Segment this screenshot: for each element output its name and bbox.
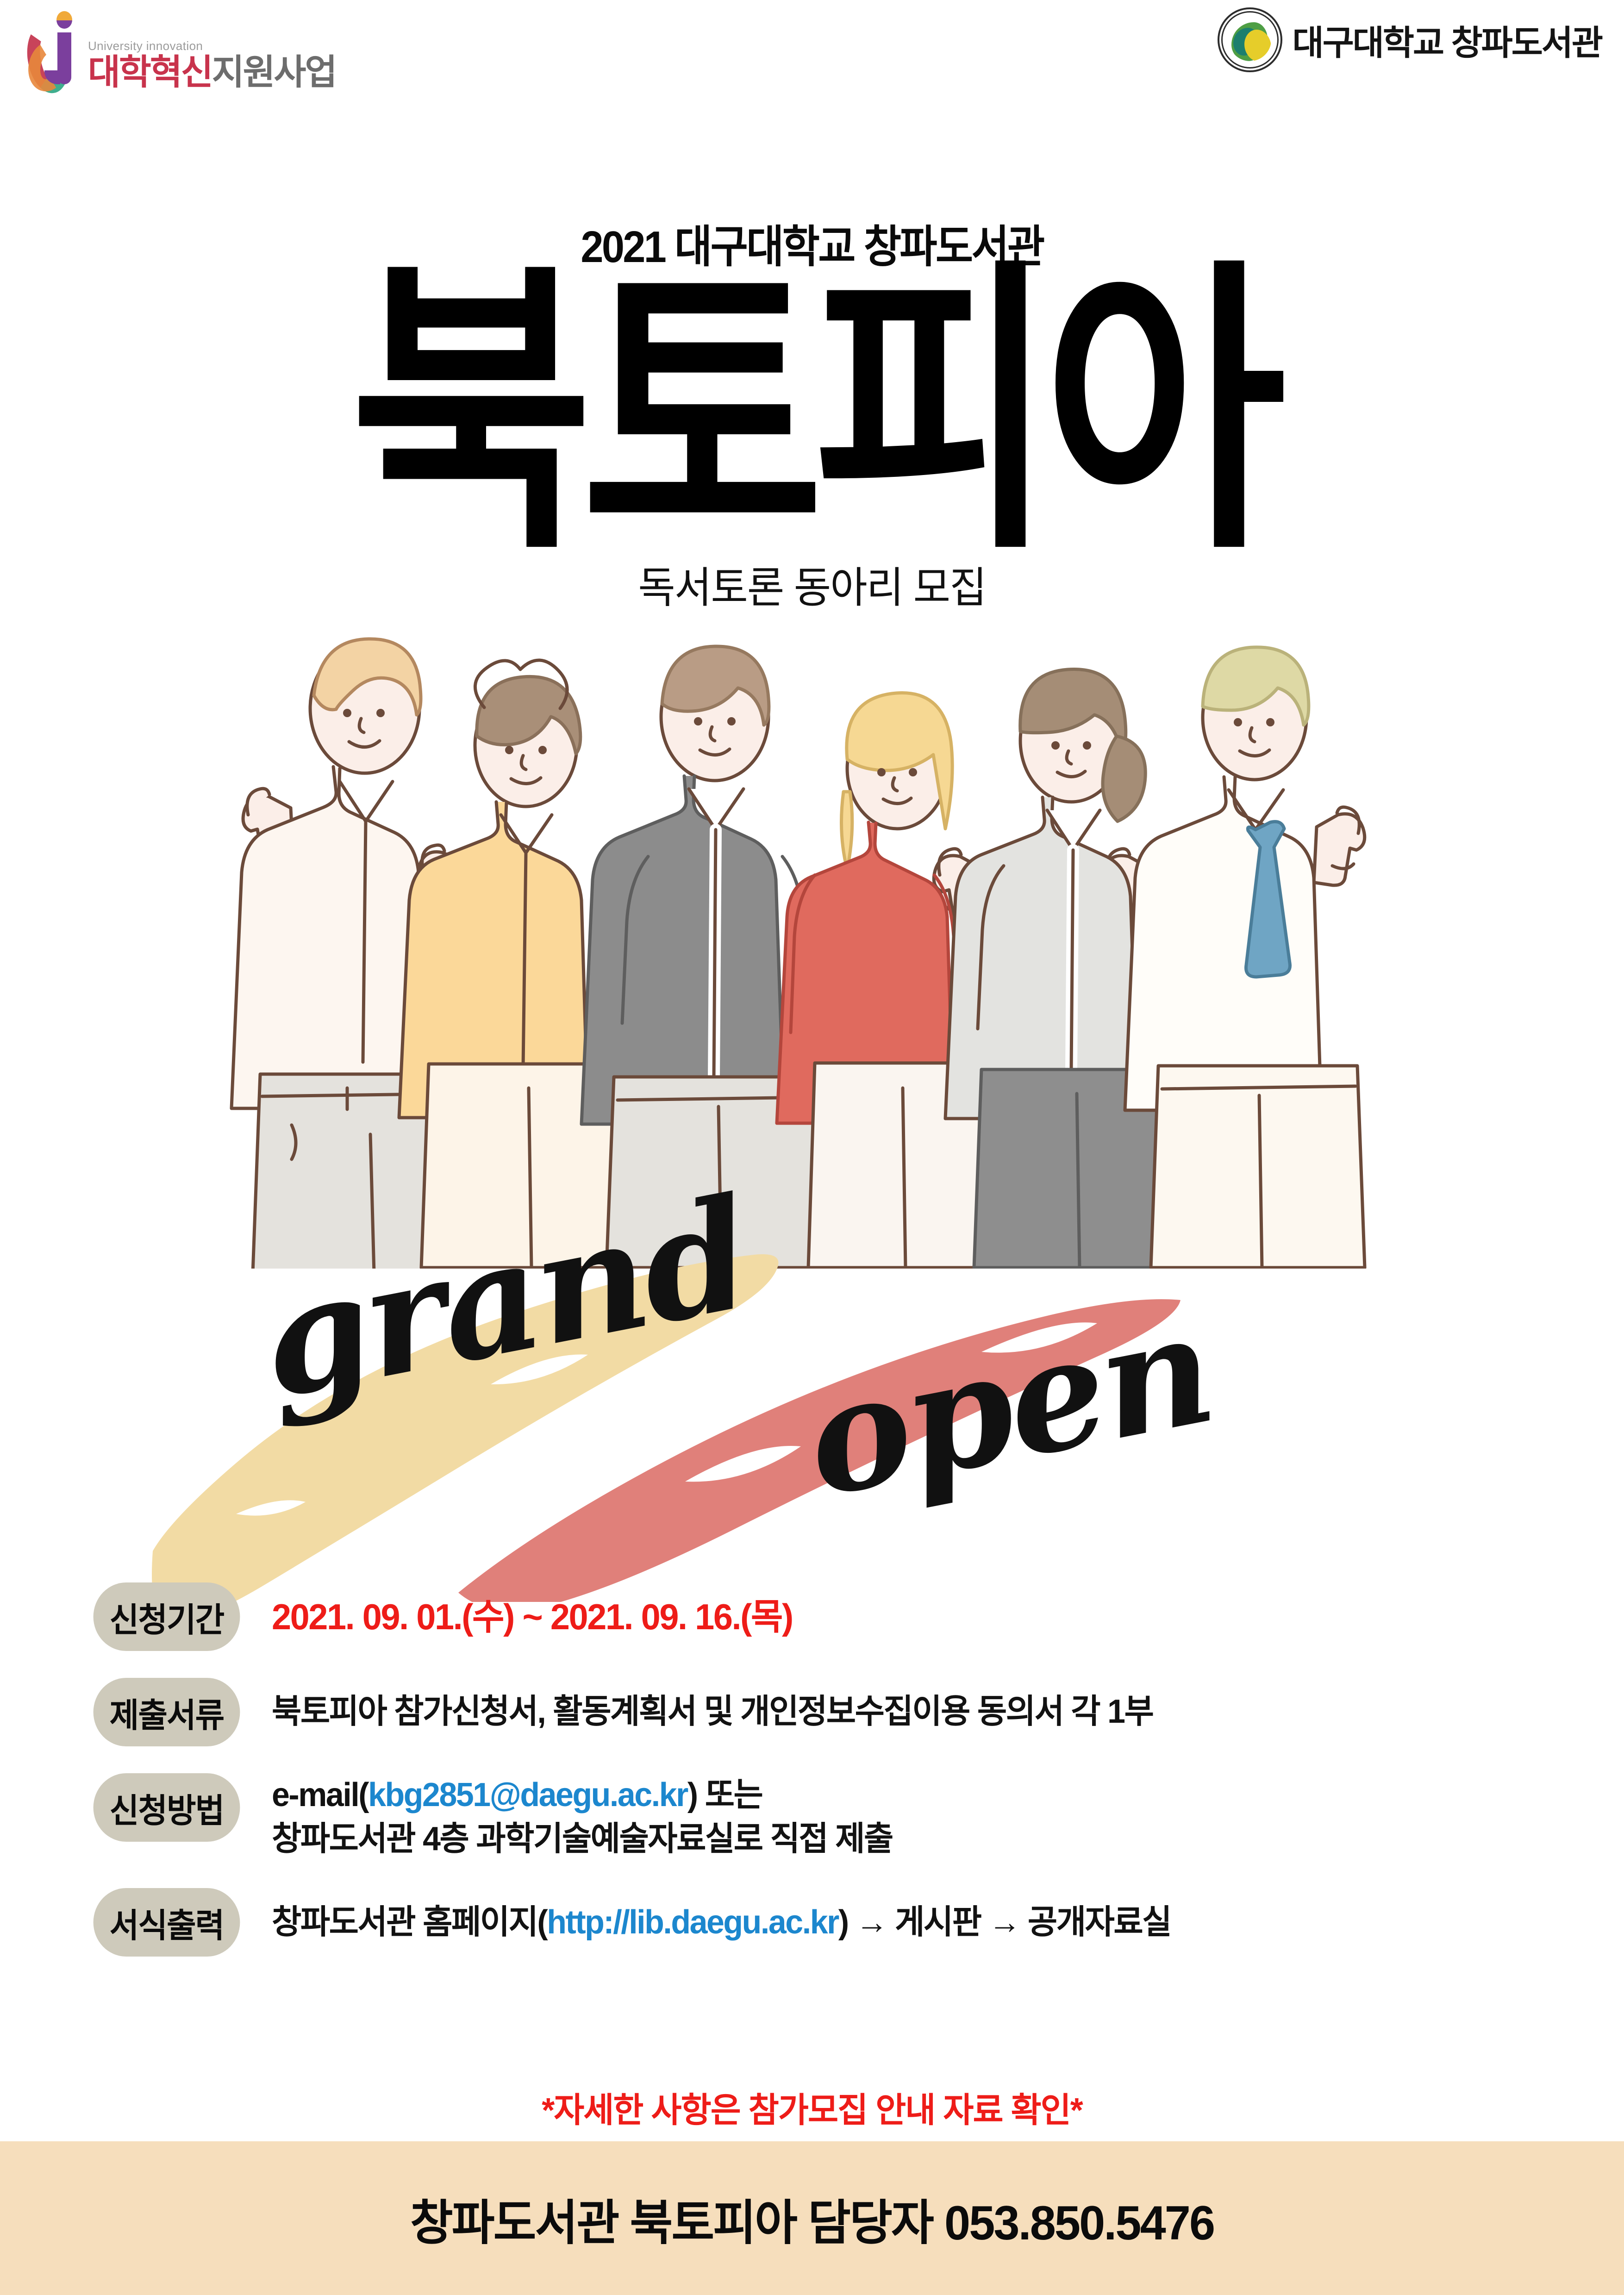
info-value-form-download: 창파도서관 홈페이지(http://lib.daegu.ac.kr) → 게시판… [243, 1888, 1562, 1957]
logo-kr-red: 대학혁신 [88, 53, 212, 92]
info-row-application-period: 신청기간 2021. 09. 01.(수) ~ 2021. 09. 16.(목) [90, 1582, 1562, 1651]
daegu-library-logo: 대구대학교 창파도서관 [1218, 7, 1602, 72]
info-label-application-period: 신청기간 [94, 1582, 240, 1651]
footnote: *자세한 사항은 참가모집 안내 자료 확인* [25, 2082, 1600, 2132]
university-innovation-logo: University innovation 대학혁신지원사업 [28, 8, 336, 94]
university-innovation-wordmark: University innovation 대학혁신지원사업 [88, 39, 336, 94]
logo-kr-gray: 지원사업 [212, 53, 336, 92]
info-row-required-documents: 제출서류 북토피아 참가신청서, 활동계획서 및 개인정보수집이용 동의서 각 … [90, 1678, 1562, 1746]
homepage-link[interactable]: http://lib.daegu.ac.kr [547, 1904, 838, 1941]
info-label-form-download: 서식출력 [94, 1888, 240, 1957]
poster-canvas: University innovation 대학혁신지원사업 대구대학교 창파도… [0, 0, 1624, 2295]
info-value-application-method: e-mail(kbg2851@daegu.ac.kr) 또는 창파도서관 4층 … [243, 1773, 1562, 1861]
info-line: 북토피아 참가신청서, 활동계획서 및 개인정보수집이용 동의서 각 1부 [272, 1690, 1524, 1734]
info-line: 창파도서관 홈페이지(http://lib.daegu.ac.kr) → 게시판… [272, 1901, 1524, 1945]
info-value-application-period: 2021. 09. 01.(수) ~ 2021. 09. 16.(목) [243, 1582, 1562, 1651]
email-link[interactable]: kbg2851@daegu.ac.kr [368, 1776, 687, 1813]
info-line: e-mail(kbg2851@daegu.ac.kr) 또는 [272, 1773, 1524, 1817]
page-title: 북토피아 [0, 259, 1624, 565]
contact-footer: 창파도서관 북토피아 담당자 053.850.5476 [0, 2141, 1624, 2295]
library-wordmark: 대구대학교 창파도서관 [1293, 15, 1602, 65]
logo-tagline: University innovation [88, 39, 336, 53]
info-row-application-method: 신청방법 e-mail(kbg2851@daegu.ac.kr) 또는 창파도서… [90, 1773, 1562, 1861]
info-label-application-method: 신청방법 [94, 1773, 240, 1842]
people-illustration [153, 597, 1495, 1269]
homepage-suffix: ) → 게시판 → 공개자료실 [838, 1904, 1171, 1941]
homepage-prefix: 창파도서관 홈페이지( [272, 1904, 547, 1941]
info-line: 창파도서관 4층 과학기술예술자료실로 직접 제출 [272, 1817, 1524, 1861]
email-suffix: ) 또는 [687, 1776, 762, 1813]
contact-text: 창파도서관 북토피아 담당자 053.850.5476 [410, 2183, 1214, 2253]
info-row-form-download: 서식출력 창파도서관 홈페이지(http://lib.daegu.ac.kr) … [90, 1888, 1562, 1957]
info-table: 신청기간 2021. 09. 01.(수) ~ 2021. 09. 16.(목)… [90, 1582, 1562, 1957]
info-value-required-documents: 북토피아 참가신청서, 활동계획서 및 개인정보수집이용 동의서 각 1부 [243, 1678, 1562, 1746]
uj-monogram-icon [28, 8, 80, 94]
email-prefix: e-mail( [272, 1776, 368, 1813]
info-line: 2021. 09. 01.(수) ~ 2021. 09. 16.(목) [272, 1593, 1524, 1641]
info-label-required-documents: 제출서류 [94, 1678, 240, 1746]
daegu-university-emblem-icon [1218, 7, 1282, 72]
